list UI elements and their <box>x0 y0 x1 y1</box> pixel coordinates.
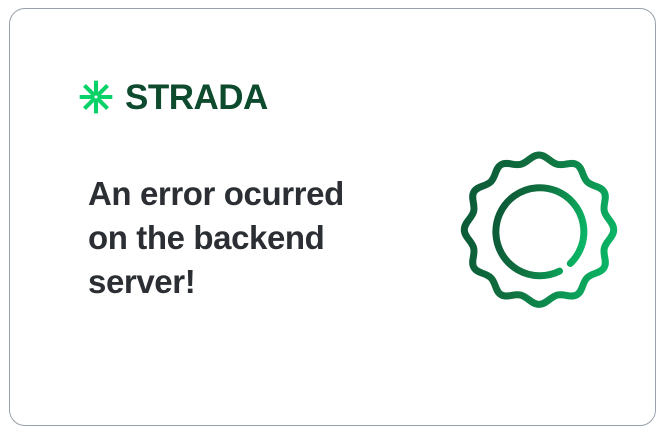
gear-icon <box>453 143 625 315</box>
gear-illustration <box>453 143 625 315</box>
brand-lockup: STRADA <box>79 75 268 119</box>
strada-asterisk-icon <box>79 80 113 114</box>
error-headline: An error ocurred on the backend server! <box>88 172 378 304</box>
error-card: STRADA An error ocurred on the backend s… <box>9 8 656 426</box>
screen: STRADA An error ocurred on the backend s… <box>0 0 666 436</box>
brand-wordmark: STRADA <box>125 80 268 115</box>
